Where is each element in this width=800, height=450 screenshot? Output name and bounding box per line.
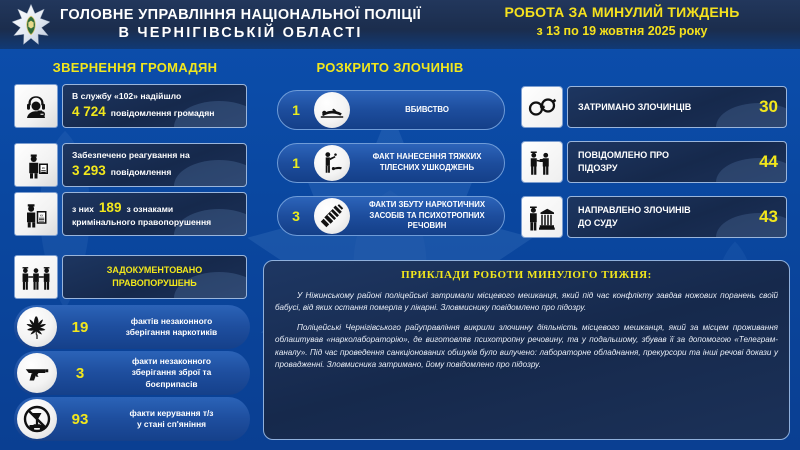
result-card-detained[interactable]: ЗАТРИМАНО ЗЛОЧИНЦІВ 30 [521, 86, 787, 128]
cannabis-leaf-icon [17, 307, 57, 347]
handcuffs-icon [521, 86, 563, 128]
solved-pill-murder[interactable]: 1 ВБИВСТВО [277, 90, 505, 130]
violation-pill-drugs-number: 19 [57, 319, 103, 336]
solved-pill-injury-line1: ФАКТ НАНЕСЕННЯ ТЯЖКИХ [358, 152, 496, 163]
violation-pill-dui-number: 93 [57, 411, 103, 428]
examples-paragraph-1: У Ніжинському районі поліцейські затрима… [275, 290, 778, 314]
appeal-card-criminal-line1: з ознаками [126, 204, 173, 216]
violation-pill-weapons-number: 3 [57, 365, 103, 382]
solved-pill-drugs-number: 3 [278, 208, 314, 224]
violation-pill-drugs-line1: фактів незаконного [103, 316, 240, 327]
appeal-card-criminal-line2: кримінального правопорушення [72, 217, 240, 229]
appeal-card-102-line2: повідомлення громадян [111, 108, 215, 120]
organization-title: ГОЛОВНЕ УПРАВЛІННЯ НАЦІОНАЛЬНОЇ ПОЛІЦІЇ … [60, 7, 421, 41]
appeal-card-102[interactable]: В службу «102» надійшло 4 724 повідомлен… [14, 84, 247, 128]
assault-figure-icon [314, 145, 350, 181]
police-star-badge-icon [8, 3, 54, 47]
officer-with-code-book-icon: КК [14, 192, 58, 236]
headset-operator-icon [14, 84, 58, 128]
examples-paragraph-2: Поліцейські Чернігівського райуправління… [275, 322, 778, 371]
violation-pill-dui[interactable]: 93 факти керування т/з у стані сп'яніння [14, 397, 250, 441]
result-card-detained-panel: ЗАТРИМАНО ЗЛОЧИНЦІВ 30 [567, 86, 787, 128]
solved-pill-drugs-line2: ЗАСОБІВ ТА ПСИХОТРОПНИХ [358, 211, 496, 222]
documented-violations-panel: ЗАДОКУМЕНТОВАНО ПРАВОПОРУШЕНЬ [62, 255, 247, 299]
result-card-court[interactable]: НАПРАВЛЕНО ЗЛОЧИНІВ ДО СУДУ 43 [521, 196, 787, 238]
three-officers-detainee-icon [14, 255, 58, 299]
period-title: РОБОТА ЗА МИНУЛИЙ ТИЖДЕНЬ [452, 4, 792, 21]
officer-at-board-icon: КК [14, 143, 58, 187]
documented-violations-line1: ЗАДОКУМЕНТОВАНО [107, 264, 203, 277]
result-card-suspicion-panel: ПОВІДОМЛЕНО ПРО ПІДОЗРУ 44 [567, 141, 787, 183]
examples-panel: ПРИКЛАДИ РОБОТИ МИНУЛОГО ТИЖНЯ: У Ніжинс… [263, 260, 790, 440]
appeal-card-criminal[interactable]: КК з них 189 з ознаками кримінального пр… [14, 192, 247, 236]
result-card-court-number: 43 [753, 207, 778, 227]
result-card-suspicion[interactable]: ПОВІДОМЛЕНО ПРО ПІДОЗРУ 44 [521, 141, 787, 183]
appeal-card-criminal-prefix: з них [72, 204, 94, 216]
svg-text:КК: КК [40, 213, 44, 217]
documented-violations-card[interactable]: ЗАДОКУМЕНТОВАНО ПРАВОПОРУШЕНЬ [14, 255, 247, 299]
result-card-court-line2: ДО СУДУ [578, 217, 753, 230]
solved-pill-drugs-line1: ФАКТИ ЗБУТУ НАРКОТИЧНИХ [358, 200, 496, 211]
appeal-card-response-line1: Забезпечено реагування на [72, 150, 240, 162]
solved-pill-drugs-line3: РЕЧОВИН [358, 221, 496, 232]
violation-pill-weapons-line3: боєприпасів [103, 379, 240, 390]
appeal-card-response-number: 3 293 [72, 162, 106, 180]
pistol-icon [17, 353, 57, 393]
solved-pill-injury-line2: ТІЛЕСНИХ УШКОДЖЕНЬ [358, 163, 496, 174]
officer-notifying-person-icon [521, 141, 563, 183]
appeal-card-102-line1: В службу «102» надійшло [72, 91, 240, 103]
appeal-card-102-panel: В службу «102» надійшло 4 724 повідомлен… [62, 84, 247, 128]
body-on-ground-icon [314, 92, 350, 128]
violation-pill-weapons-line1: факти незаконного [103, 356, 240, 367]
violation-pill-weapons-line2: зберігання зброї та [103, 367, 240, 378]
org-title-line2: В ЧЕРНІГІВСЬКІЙ ОБЛАСТІ [60, 25, 421, 42]
officer-courthouse-icon [521, 196, 563, 238]
org-title-line1: ГОЛОВНЕ УПРАВЛІННЯ НАЦІОНАЛЬНОЇ ПОЛІЦІЇ [60, 7, 421, 24]
section-title-solved: РОЗКРИТО ЗЛОЧИНІВ [265, 60, 515, 75]
period-block: РОБОТА ЗА МИНУЛИЙ ТИЖДЕНЬ з 13 по 19 жов… [452, 4, 792, 39]
violation-pill-drugs[interactable]: 19 фактів незаконного зберігання наркоти… [14, 305, 250, 349]
result-card-court-line1: НАПРАВЛЕНО ЗЛОЧИНІВ [578, 204, 753, 217]
documented-violations-line2: ПРАВОПОРУШЕНЬ [107, 277, 203, 290]
appeal-card-response[interactable]: КК Забезпечено реагування на 3 293 повід… [14, 143, 247, 187]
examples-title: ПРИКЛАДИ РОБОТИ МИНУЛОГО ТИЖНЯ: [275, 269, 778, 281]
violation-pill-dui-line1: факти керування т/з [103, 408, 240, 419]
solved-pill-injury-number: 1 [278, 155, 314, 171]
appeal-card-criminal-number: 189 [99, 199, 122, 217]
period-dates: з 13 по 19 жовтня 2025 року [452, 24, 792, 39]
solved-pill-murder-number: 1 [278, 102, 314, 118]
violation-pill-drugs-line2: зберігання наркотиків [103, 327, 240, 338]
result-card-detained-number: 30 [753, 97, 778, 117]
appeal-card-102-number: 4 724 [72, 103, 106, 121]
appeal-card-criminal-panel: з них 189 з ознаками кримінального право… [62, 192, 247, 236]
svg-text:КК: КК [42, 166, 46, 170]
result-card-suspicion-number: 44 [753, 152, 778, 172]
appeal-card-response-line2: повідомлення [111, 167, 172, 179]
result-card-court-panel: НАПРАВЛЕНО ЗЛОЧИНІВ ДО СУДУ 43 [567, 196, 787, 238]
infographic-page: ГОЛОВНЕ УПРАВЛІННЯ НАЦІОНАЛЬНОЇ ПОЛІЦІЇ … [0, 0, 800, 450]
page-header: ГОЛОВНЕ УПРАВЛІННЯ НАЦІОНАЛЬНОЇ ПОЛІЦІЇ … [0, 0, 800, 49]
solved-pill-murder-line1: ВБИВСТВО [358, 105, 496, 116]
violation-pill-dui-line2: у стані сп'яніння [103, 419, 240, 430]
result-card-suspicion-line2: ПІДОЗРУ [578, 162, 753, 175]
section-title-appeals: ЗВЕРНЕННЯ ГРОМАДЯН [10, 60, 260, 75]
solved-pill-drugs[interactable]: 3 ФАКТИ ЗБУТУ НАРКОТИЧНИХ ЗАСОБІВ ТА ПСИ… [277, 196, 505, 236]
syringe-drugs-icon [314, 198, 350, 234]
result-card-suspicion-line1: ПОВІДОМЛЕНО ПРО [578, 149, 753, 162]
violation-pill-weapons[interactable]: 3 факти незаконного зберігання зброї та … [14, 351, 250, 395]
no-drink-driving-icon [17, 399, 57, 439]
result-card-detained-line1: ЗАТРИМАНО ЗЛОЧИНЦІВ [578, 101, 753, 114]
appeal-card-response-panel: Забезпечено реагування на 3 293 повідомл… [62, 143, 247, 187]
solved-pill-injury[interactable]: 1 ФАКТ НАНЕСЕННЯ ТЯЖКИХ ТІЛЕСНИХ УШКОДЖЕ… [277, 143, 505, 183]
